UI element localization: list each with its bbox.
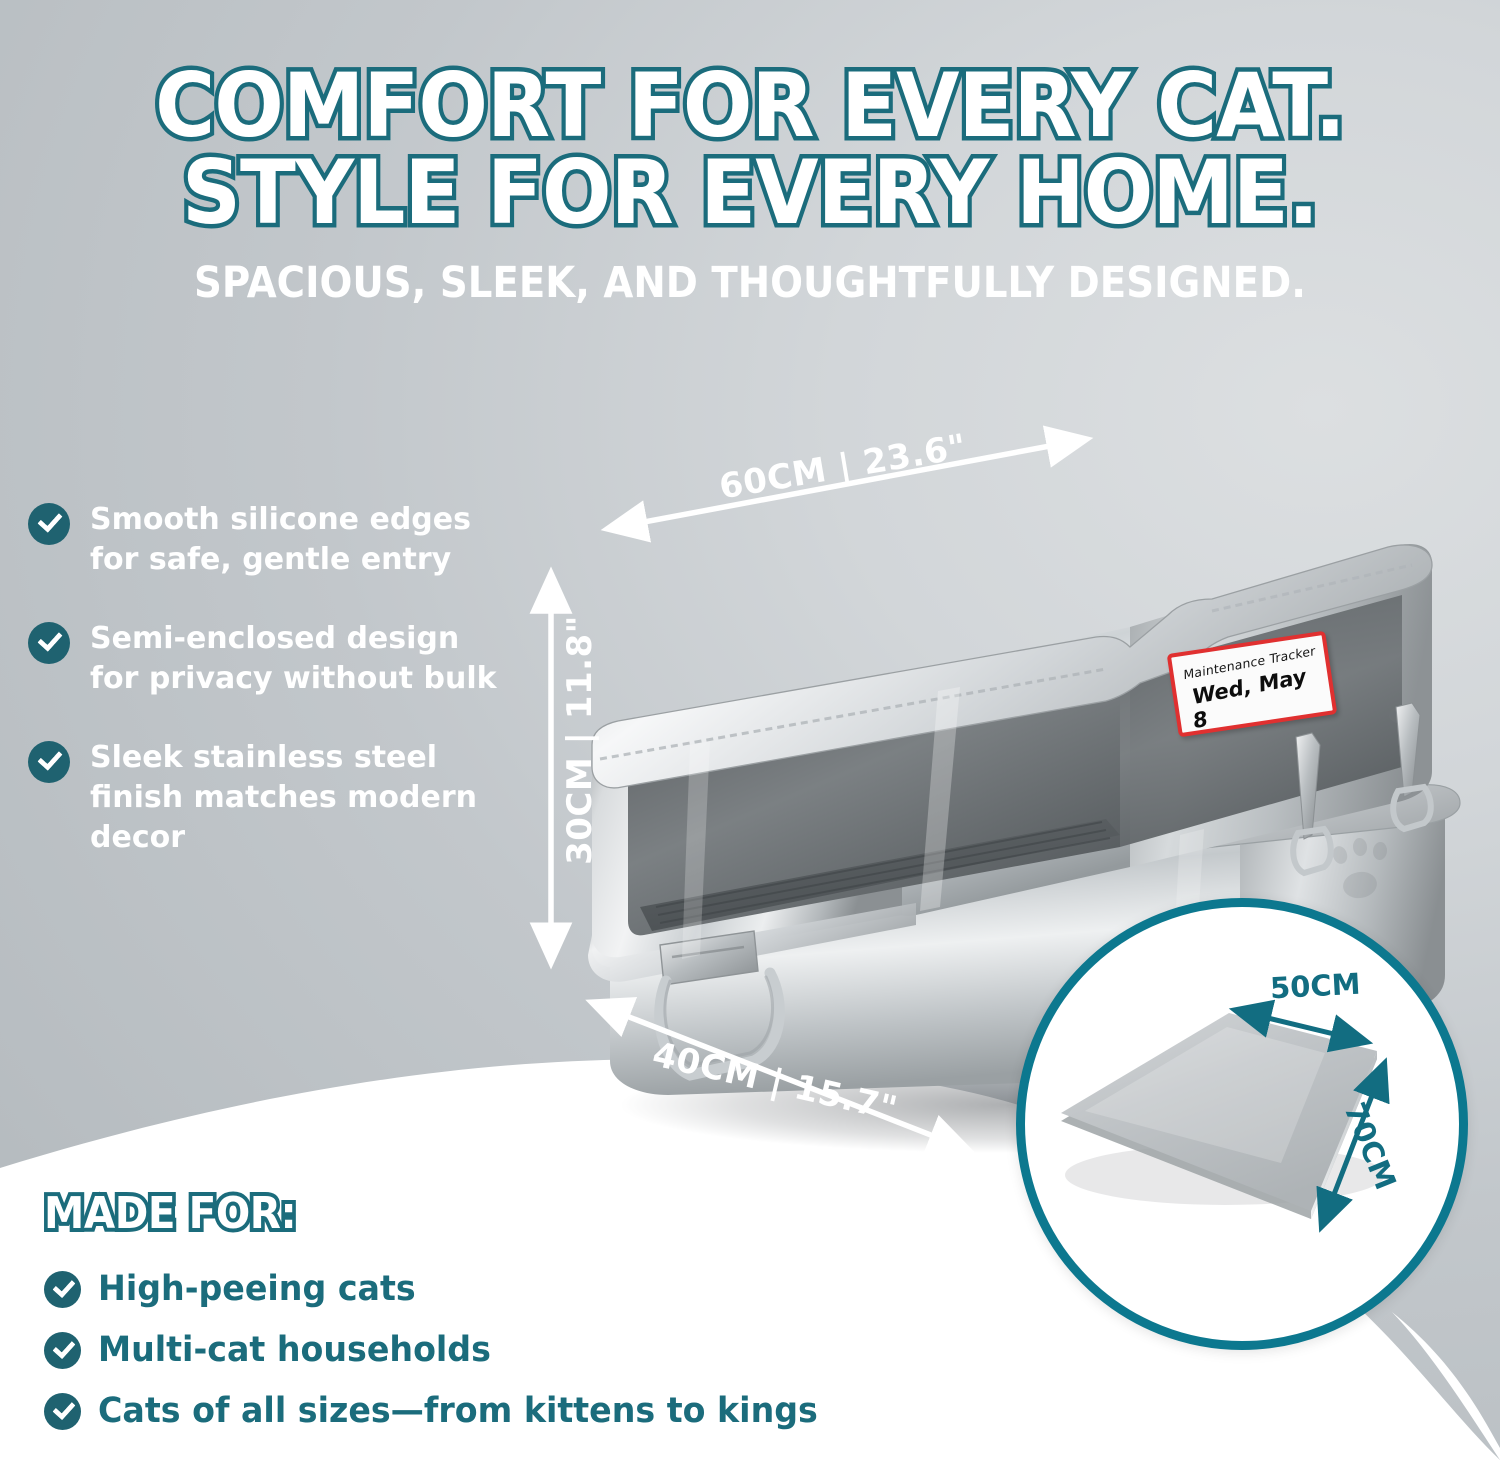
inset-mat-illustration	[1025, 907, 1459, 1341]
made-for-block: MADE FOR: High-peeing cats Multi-cat hou…	[44, 1188, 984, 1452]
feature-label: Semi-enclosed design for privacy without…	[90, 619, 498, 698]
dimension-label-height: 30CM | 11.8"	[560, 615, 600, 865]
feature-list: Smooth silicone edges for safe, gentle e…	[28, 500, 498, 897]
made-for-title: MADE FOR:	[44, 1188, 296, 1239]
made-for-label: Multi-cat households	[98, 1330, 491, 1370]
made-for-label: High-peeing cats	[98, 1269, 416, 1309]
check-circle-icon	[44, 1393, 81, 1430]
made-for-item-list: High-peeing cats Multi-cat households Ca…	[44, 1269, 984, 1431]
feature-item: Semi-enclosed design for privacy without…	[28, 619, 498, 698]
feature-label: Sleek stainless steel finish matches mod…	[90, 738, 498, 857]
made-for-item: Multi-cat households	[44, 1330, 984, 1370]
subheadline: SPACIOUS, SLEEK, AND THOUGHTFULLY DESIGN…	[75, 258, 1425, 308]
headline-line-1: COMFORT FOR EVERY CAT.	[53, 62, 1448, 149]
check-circle-icon	[44, 1332, 81, 1369]
check-circle-icon	[44, 1271, 81, 1308]
feature-item: Sleek stainless steel finish matches mod…	[28, 738, 498, 857]
feature-label: Smooth silicone edges for safe, gentle e…	[90, 500, 498, 579]
made-for-label: Cats of all sizes—from kittens to kings	[98, 1391, 818, 1431]
headline-block: COMFORT FOR EVERY CAT. STYLE FOR EVERY H…	[0, 62, 1500, 308]
check-circle-icon	[28, 741, 70, 783]
inset-dimension-label-width: 50CM	[1269, 967, 1361, 1006]
check-circle-icon	[28, 622, 70, 664]
feature-item: Smooth silicone edges for safe, gentle e…	[28, 500, 498, 579]
headline-line-2: STYLE FOR EVERY HOME.	[53, 149, 1448, 236]
made-for-item: Cats of all sizes—from kittens to kings	[44, 1391, 984, 1431]
check-circle-icon	[28, 503, 70, 545]
made-for-item: High-peeing cats	[44, 1269, 984, 1309]
inset-circle-mat-detail: 50CM 70CM	[1016, 898, 1468, 1350]
